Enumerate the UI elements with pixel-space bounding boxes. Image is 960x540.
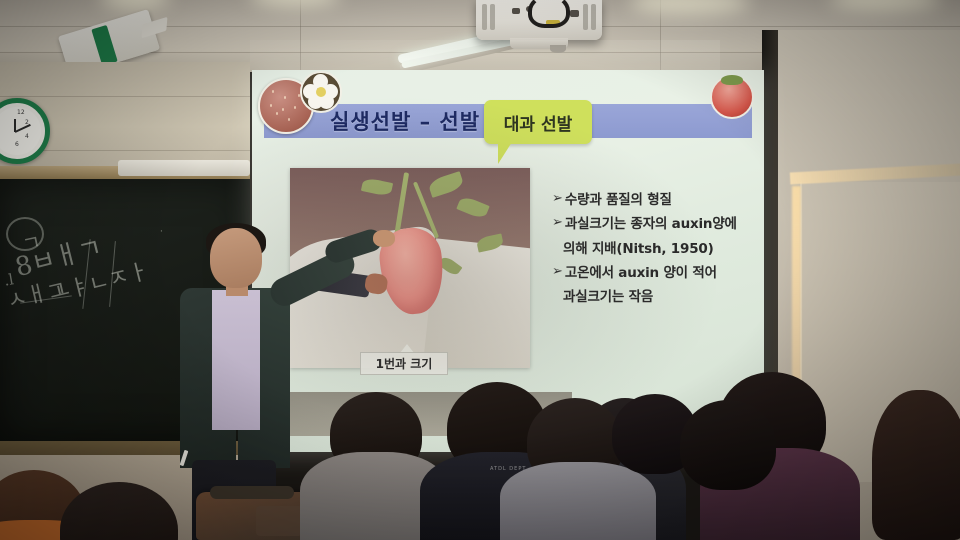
- slide-bullet-list: ➢ 수량과 품질의 형질 ➢ 과실크기는 종자의 auxin양에 의해 지배(N…: [552, 190, 758, 311]
- bullet-marker-icon: ➢: [552, 214, 563, 233]
- bullet-marker-icon: ➢: [552, 190, 563, 209]
- bullet-item: ➢ 과실크기는 종자의 auxin양에: [552, 214, 758, 234]
- callout-tail: [498, 142, 512, 164]
- bullet-text: 과실크기는 종자의 auxin양에: [565, 214, 737, 234]
- student-head-center-right: [680, 400, 776, 490]
- backpack: [196, 492, 316, 540]
- bullet-marker-icon: ➢: [552, 263, 563, 282]
- student-long-hair-right: [872, 390, 960, 540]
- chalk-rail-cover: [118, 160, 250, 176]
- strawberry-icon-right: [710, 75, 754, 119]
- callout-label: 대과 선발: [484, 100, 592, 144]
- strawberry-flower-icon: [300, 71, 342, 113]
- lecture-hall-photo: 12 2 4 6 ㄱ 8ㅂㅐㄱ .l ㅅㅐㄱ ㅗㅑㄴㅈㅏ · 실생선발 – 선발: [0, 0, 960, 540]
- photo-caption: 1번과 크기: [360, 352, 448, 375]
- presenter-hand: [373, 230, 395, 247]
- ceiling-projector: [476, 0, 602, 40]
- callout-bubble: 대과 선발: [484, 100, 592, 144]
- bullet-continuation: 의해 지배(Nitsh, 1950): [563, 239, 758, 259]
- presenter-head: [210, 228, 262, 288]
- bullet-continuation: 과실크기는 작음: [563, 287, 758, 307]
- bullet-item: ➢ 수량과 품질의 형질: [552, 190, 758, 210]
- projector-cable: [528, 0, 570, 28]
- bullet-text: 수량과 품질의 형질: [565, 190, 672, 210]
- projector-lens: [550, 45, 566, 53]
- slide-title: 실생선발 – 선발: [330, 106, 480, 136]
- bullet-item: ➢ 고온에서 auxin 양이 적어: [552, 263, 758, 283]
- bullet-text: 고온에서 auxin 양이 적어: [565, 263, 717, 283]
- student-body: [500, 462, 656, 540]
